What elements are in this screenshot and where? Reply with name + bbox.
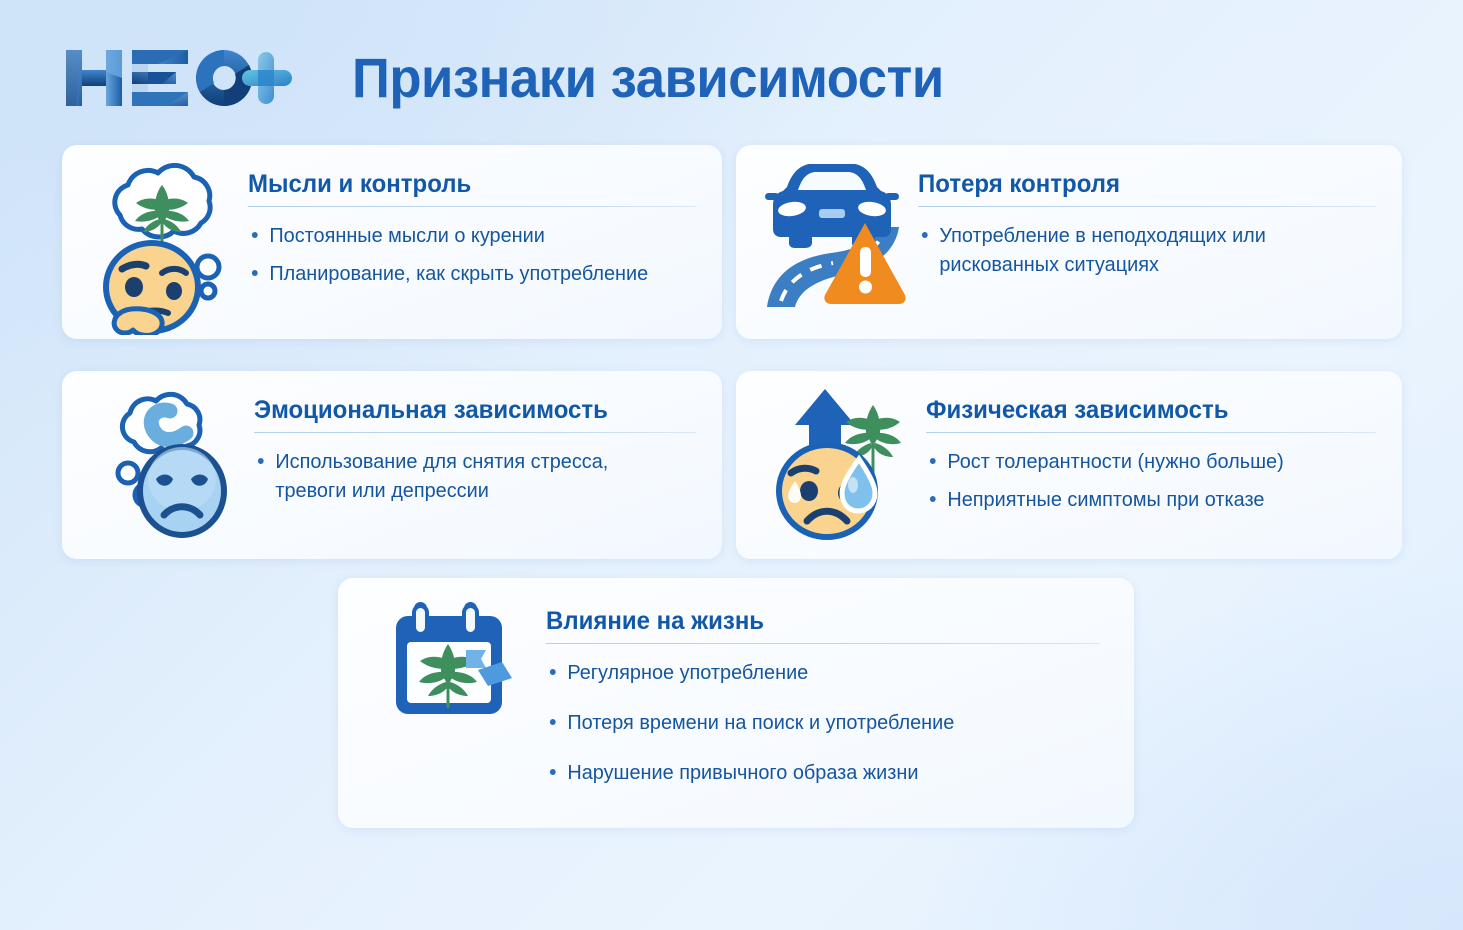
card-bullet-list: Рост толерантности (нужно больше) Неприя… (926, 433, 1376, 514)
list-item: Постоянные мысли о курении (248, 221, 683, 250)
list-item: Рост толерантности (нужно больше) (926, 447, 1363, 476)
card-body: Эмоциональная зависимость Использование … (250, 371, 722, 505)
card-icon-wrap (736, 371, 922, 543)
card-heading: Влияние на жизнь (546, 608, 1078, 634)
card-heading: Мысли и контроль (248, 171, 678, 197)
page-title: Признаки зависимости (352, 50, 944, 106)
card-physical-dependence[interactable]: Физическая зависимость Рост толерантност… (736, 371, 1402, 559)
card-icon-wrap (338, 578, 542, 718)
card-heading: Потеря контроля (918, 171, 1358, 197)
list-item: Использование для снятия стресса, тревог… (254, 447, 683, 505)
poster-header: Признаки зависимости (62, 32, 1401, 124)
card-body: Физическая зависимость Рост толерантност… (922, 371, 1402, 514)
card-heading: Физическая зависимость (926, 397, 1358, 423)
card-icon-wrap (62, 371, 250, 543)
card-heading: Эмоциональная зависимость (254, 397, 678, 423)
car-road-warning-triangle-icon (759, 157, 909, 317)
neo-plus-logo-icon (62, 42, 294, 114)
card-bullet-list: Постоянные мысли о курении Планирование,… (248, 207, 696, 288)
thought-bubble-sad-blue-face-icon (100, 387, 240, 543)
card-impact-on-life[interactable]: Влияние на жизнь Регулярное употребление… (338, 578, 1134, 828)
thought-bubble-cannabis-thinking-face-icon (90, 163, 238, 335)
list-item: Регулярное употребление (546, 658, 1083, 687)
list-item: Употребление в неподходящих или рискован… (918, 221, 1362, 279)
card-emotional-dependence[interactable]: Эмоциональная зависимость Использование … (62, 371, 722, 559)
card-loss-of-control[interactable]: Потеря контроля Употребление в неподходя… (736, 145, 1402, 339)
infographic-poster: Признаки зависимости (0, 0, 1463, 930)
card-bullet-list: Использование для снятия стресса, тревог… (254, 433, 696, 505)
card-bullet-list: Регулярное употребление Потеря времени н… (546, 644, 1100, 787)
list-item: Неприятные симптомы при отказе (926, 485, 1363, 514)
up-arrow-cannabis-sweating-face-icon (769, 381, 915, 543)
card-body: Влияние на жизнь Регулярное употребление… (542, 578, 1134, 788)
calendar-cannabis-icon (392, 600, 522, 718)
card-thoughts-and-control[interactable]: Мысли и контроль Постоянные мысли о куре… (62, 145, 722, 339)
card-body: Мысли и контроль Постоянные мысли о куре… (244, 145, 722, 288)
card-bullet-list: Употребление в неподходящих или рискован… (918, 207, 1376, 279)
list-item: Потеря времени на поиск и употребление (546, 708, 1083, 737)
card-icon-wrap (736, 145, 914, 317)
list-item: Нарушение привычного образа жизни (546, 758, 1083, 787)
list-item: Планирование, как скрыть употребление (248, 259, 683, 288)
card-icon-wrap (62, 145, 244, 335)
card-body: Потеря контроля Употребление в неподходя… (914, 145, 1402, 279)
